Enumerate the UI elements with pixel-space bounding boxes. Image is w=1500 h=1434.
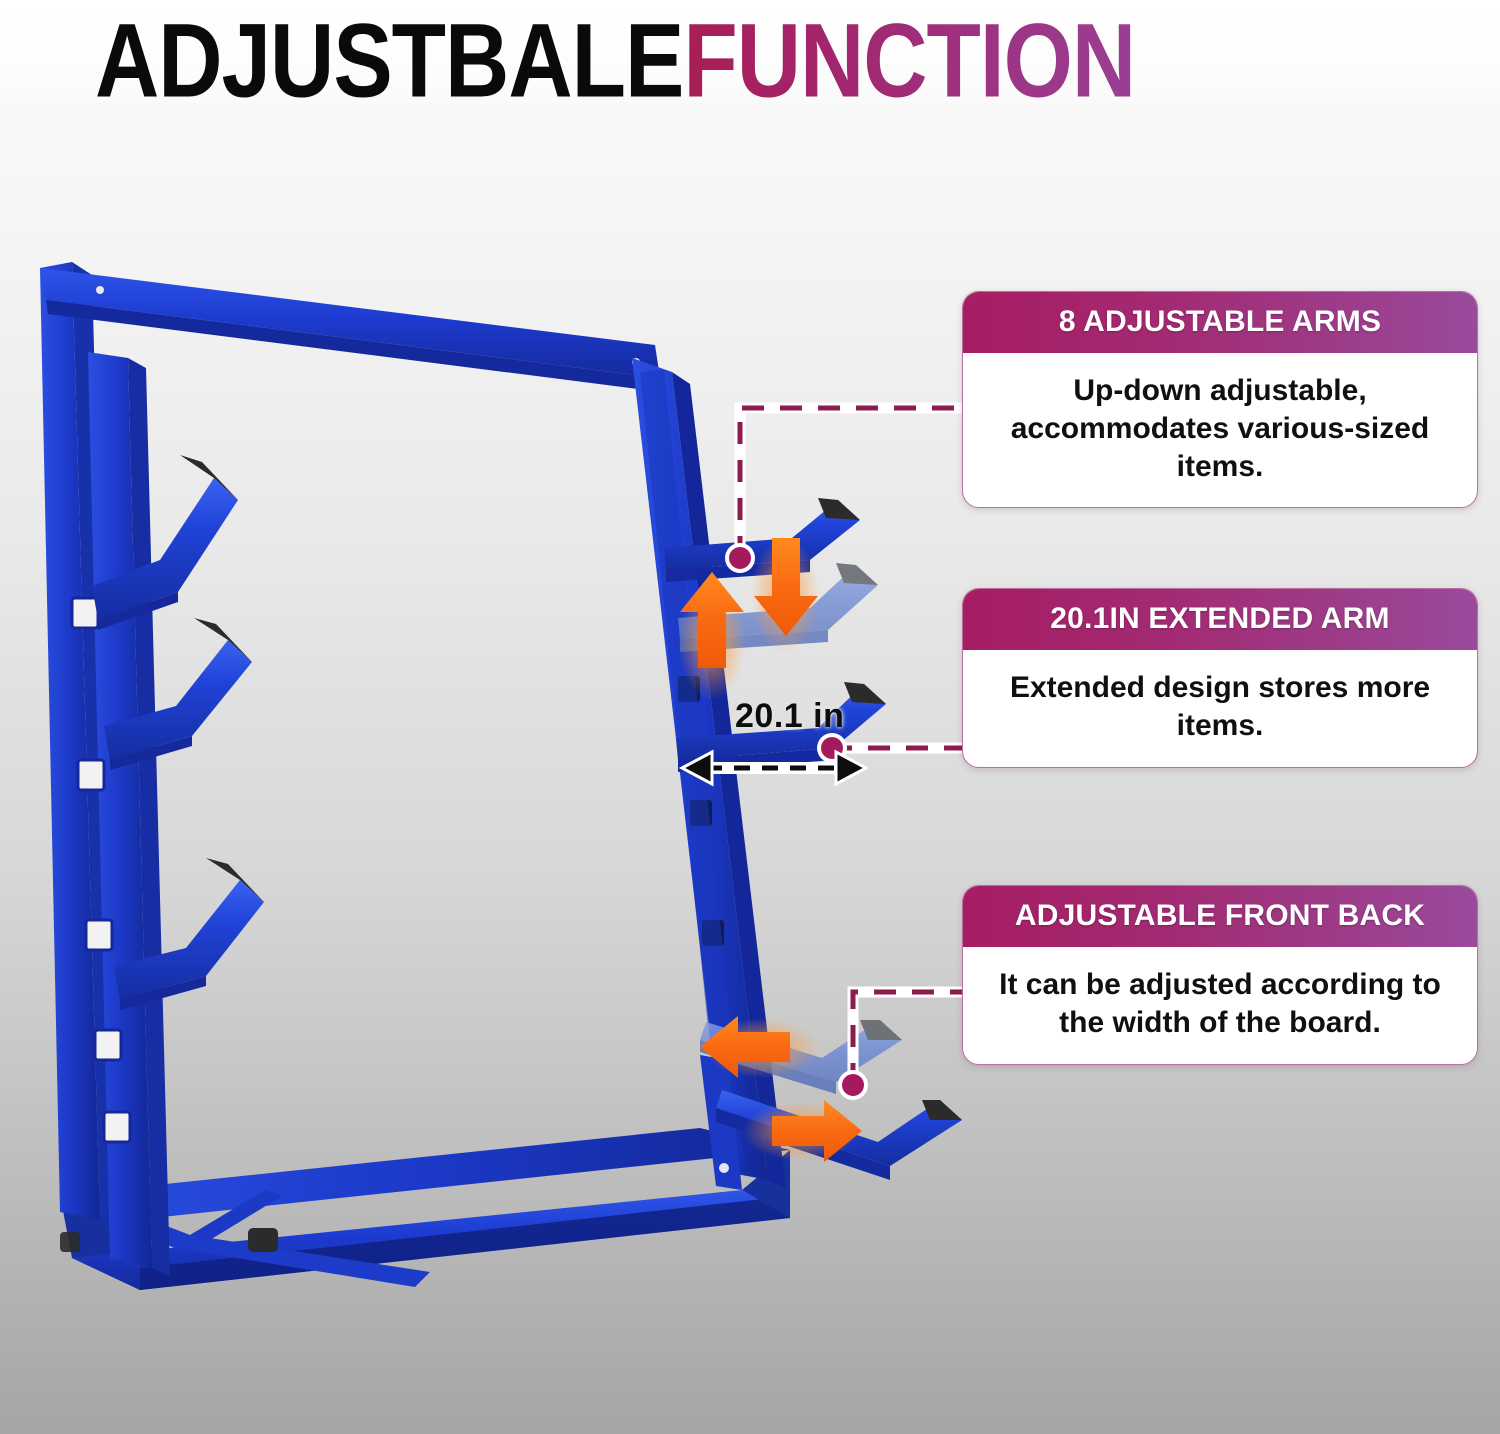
card-body: It can be adjusted according to the widt… xyxy=(963,947,1477,1064)
card-heading: 8 ADJUSTABLE ARMS xyxy=(963,292,1477,353)
card-heading: ADJUSTABLE FRONT BACK xyxy=(963,886,1477,947)
foot-pad-left xyxy=(60,1232,80,1252)
card-heading: 20.1IN EXTENDED ARM xyxy=(963,589,1477,650)
leg-bolt xyxy=(719,1163,729,1173)
card-body: Extended design stores more items. xyxy=(963,650,1477,767)
card-body: Up-down adjustable, accommodates various… xyxy=(963,353,1477,507)
dimension-label: 20.1 in xyxy=(735,697,844,736)
callout-1-halo xyxy=(740,408,962,558)
feature-card-front-back: ADJUSTABLE FRONT BACK It can be adjusted… xyxy=(962,885,1478,1065)
callout-3-dot xyxy=(842,1074,864,1096)
infographic-canvas: ADJUSTBALEFUNCTION xyxy=(0,0,1500,1434)
callout-1-dot xyxy=(729,547,751,569)
feature-card-extended-arm: 20.1IN EXTENDED ARM Extended design stor… xyxy=(962,588,1478,768)
top-rail-bolt xyxy=(96,286,104,294)
dimension-arrowhead-right xyxy=(836,752,866,784)
callout-1-line xyxy=(740,408,962,558)
feature-card-adjustable-arms: 8 ADJUSTABLE ARMS Up-down adjustable, ac… xyxy=(962,291,1478,508)
foot-pad-front xyxy=(248,1228,278,1252)
